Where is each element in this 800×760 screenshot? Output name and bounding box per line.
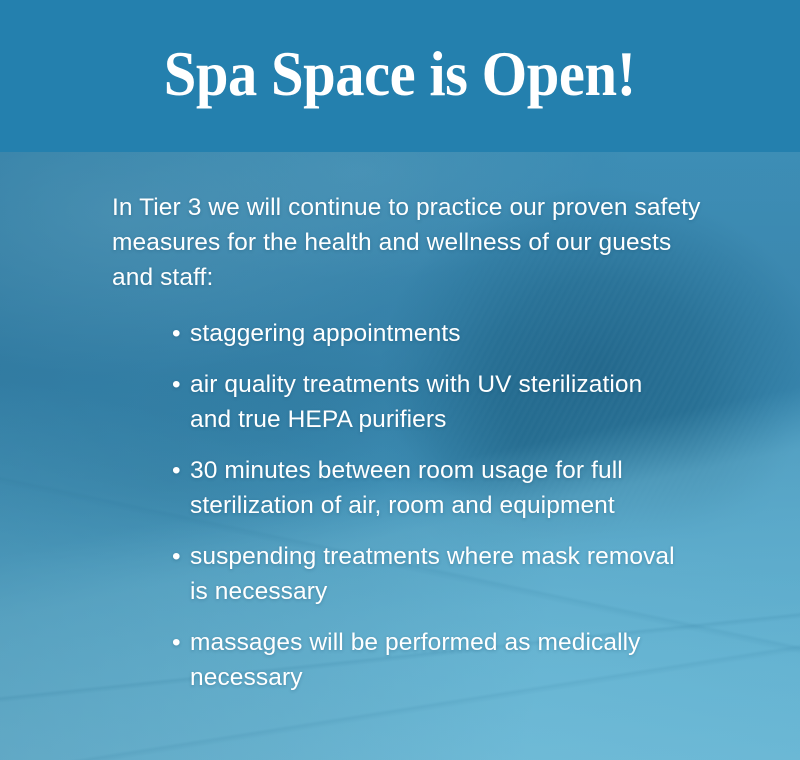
bullet-icon: •: [172, 316, 190, 351]
bullet-icon: •: [172, 453, 190, 488]
list-item: • air quality treatments with UV sterili…: [172, 367, 732, 437]
list-item-label: staggering appointments: [190, 316, 690, 351]
page-title: Spa Space is Open!: [164, 43, 636, 110]
list-item-label: suspending treatments where mask removal…: [190, 539, 690, 609]
safety-measures-list: • staggering appointments • air quality …: [172, 316, 732, 695]
list-item-label: 30 minutes between room usage for full s…: [190, 453, 690, 523]
list-item-label: air quality treatments with UV steriliza…: [190, 367, 690, 437]
bullet-icon: •: [172, 539, 190, 574]
bullet-icon: •: [172, 625, 190, 660]
list-item: • suspending treatments where mask remov…: [172, 539, 732, 609]
bullet-icon: •: [172, 367, 190, 402]
list-item: • staggering appointments: [172, 316, 732, 351]
list-item: • 30 minutes between room usage for full…: [172, 453, 732, 523]
promo-poster: Spa Space is Open! In Tier 3 we will con…: [0, 0, 800, 760]
list-item: • massages will be performed as medicall…: [172, 625, 732, 695]
poster-content: In Tier 3 we will continue to practice o…: [0, 152, 800, 760]
list-item-label: massages will be performed as medically …: [190, 625, 690, 695]
intro-paragraph: In Tier 3 we will continue to practice o…: [112, 190, 712, 295]
header-banner: Spa Space is Open!: [0, 0, 800, 152]
